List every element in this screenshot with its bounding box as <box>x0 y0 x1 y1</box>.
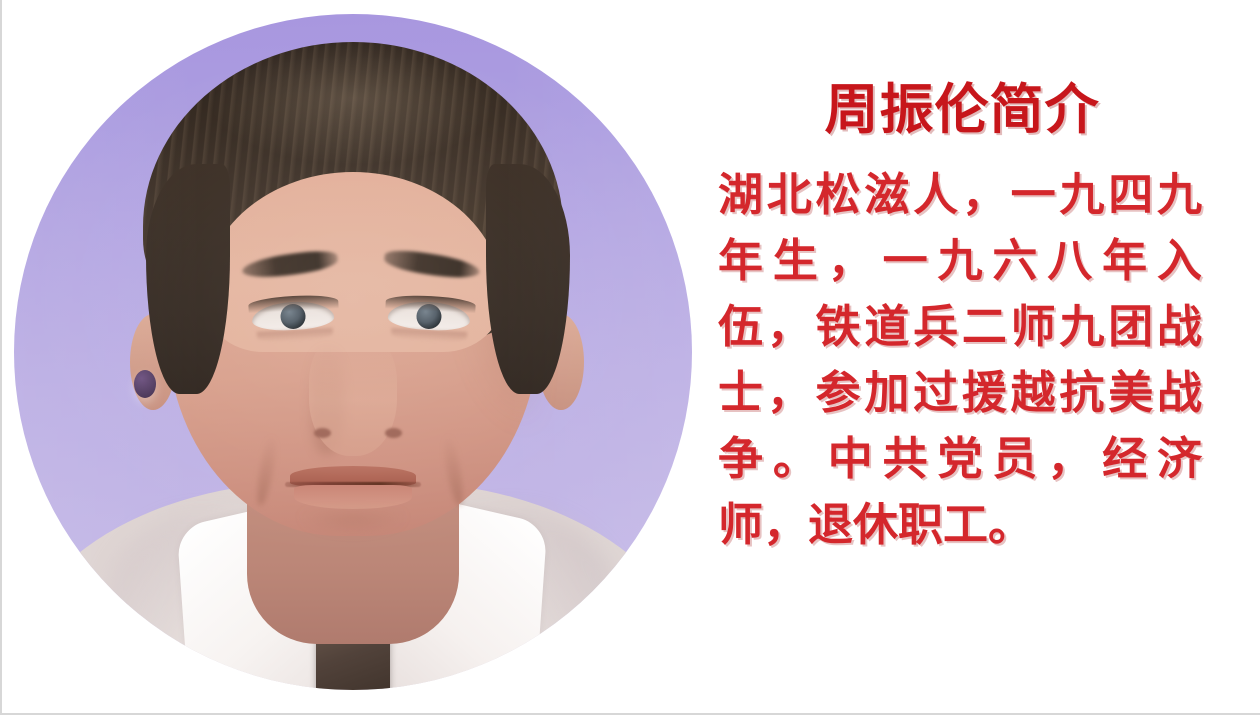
eye-right <box>387 300 470 332</box>
temple-hair-right <box>486 164 570 394</box>
temple-hair-left <box>146 164 230 394</box>
chin-shadow <box>278 514 428 558</box>
nostril-left <box>314 428 331 438</box>
slide-canvas: 周振伦简介 湖北松滋人，一九四九年生，一九六八年入伍，铁道兵二师九团战士，参加过… <box>0 0 1260 715</box>
eye-left <box>251 300 334 332</box>
earring <box>134 370 156 398</box>
profile-body-text: 湖北松滋人，一九四九年生，一九六八年入伍，铁道兵二师九团战士，参加过援越抗美战争… <box>702 162 1202 558</box>
page-title: 周振伦简介 <box>702 80 1222 140</box>
nostril-right <box>385 428 402 438</box>
profile-text-panel: 周振伦简介 湖北松滋人，一九四九年生，一九六八年入伍，铁道兵二师九团战士，参加过… <box>702 80 1222 558</box>
lower-lip <box>294 485 412 509</box>
portrait-photo <box>14 14 692 690</box>
